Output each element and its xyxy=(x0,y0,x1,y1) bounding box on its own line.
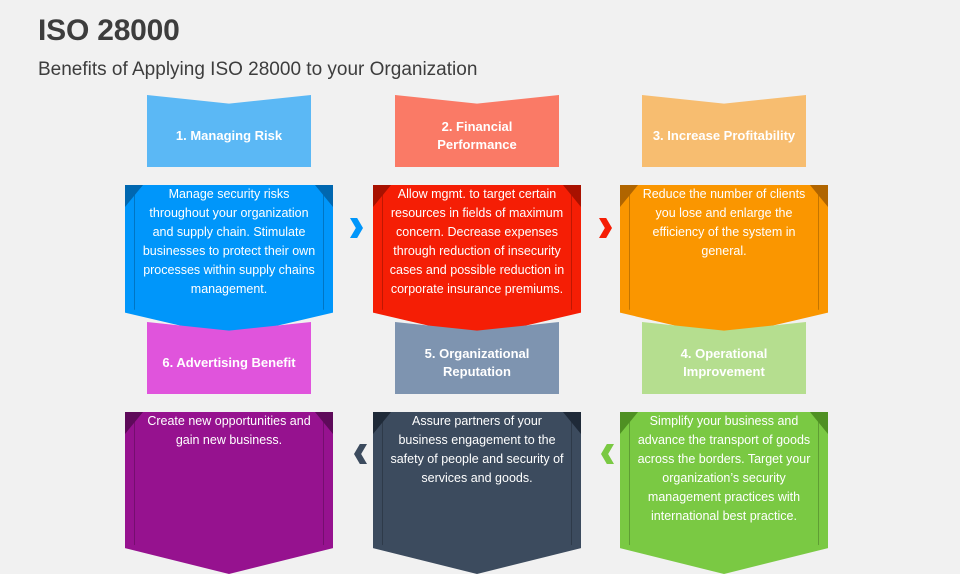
arrow-card4-to-card5-icon xyxy=(601,444,614,464)
card-banner-organizational-reputation[interactable]: 5. Organizational Reputation xyxy=(395,322,559,394)
card-banner-advertising-benefit[interactable]: 6. Advertising Benefit xyxy=(147,322,311,394)
arrow-card1-to-card2-icon xyxy=(350,218,363,238)
card-body-operational-improvement: Simplify your business and advance the t… xyxy=(620,370,828,574)
card-body-organizational-reputation: Assure partners of your business engagem… xyxy=(373,370,581,574)
card-body-shape: Allow mgmt. to target certain resources … xyxy=(373,185,581,337)
card-description: Allow mgmt. to target certain resources … xyxy=(373,185,581,299)
card-body-financial-performance: Allow mgmt. to target certain resources … xyxy=(373,143,581,337)
card-body-shape: Create new opportunities and gain new bu… xyxy=(125,412,333,574)
arrow-card5-to-card6-icon xyxy=(354,444,367,464)
benefits-diagram: Manage security risks throughout your or… xyxy=(0,0,960,540)
card-banner-operational-improvement[interactable]: 4. Operational Improvement xyxy=(642,322,806,394)
card-description: Reduce the number of clients you lose an… xyxy=(620,185,828,261)
card-title: 3. Increase Profitability xyxy=(645,117,803,145)
card-title: 2. Financial Performance xyxy=(395,108,559,154)
card-description: Manage security risks throughout your or… xyxy=(125,185,333,299)
card-title: 6. Advertising Benefit xyxy=(154,344,303,372)
card-banner-managing-risk[interactable]: 1. Managing Risk xyxy=(147,95,311,167)
card-body-increase-profitability: Reduce the number of clients you lose an… xyxy=(620,143,828,337)
arrow-card2-to-card3-icon xyxy=(599,218,612,238)
card-description: Assure partners of your business engagem… xyxy=(373,412,581,488)
card-body-advertising-benefit: Create new opportunities and gain new bu… xyxy=(125,370,333,574)
card-body-shape: Manage security risks throughout your or… xyxy=(125,185,333,337)
card-title: 1. Managing Risk xyxy=(168,117,290,145)
card-banner-increase-profitability[interactable]: 3. Increase Profitability xyxy=(642,95,806,167)
card-body-shape: Simplify your business and advance the t… xyxy=(620,412,828,574)
card-body-shape: Assure partners of your business engagem… xyxy=(373,412,581,574)
card-title: 4. Operational Improvement xyxy=(642,335,806,381)
card-description: Create new opportunities and gain new bu… xyxy=(125,412,333,450)
card-description: Simplify your business and advance the t… xyxy=(620,412,828,526)
card-title: 5. Organizational Reputation xyxy=(395,335,559,381)
card-banner-financial-performance[interactable]: 2. Financial Performance xyxy=(395,95,559,167)
card-body-managing-risk: Manage security risks throughout your or… xyxy=(125,143,333,337)
